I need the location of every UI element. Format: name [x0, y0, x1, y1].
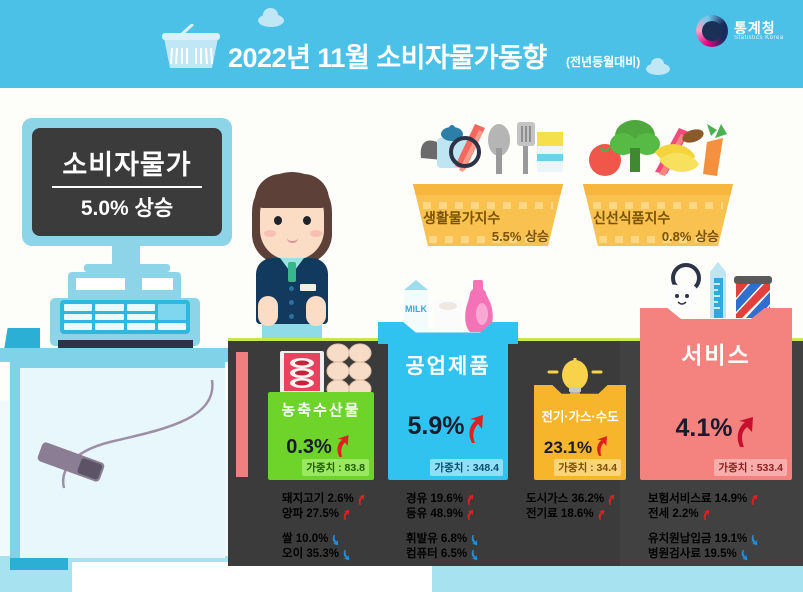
arrow-up-icon	[342, 509, 351, 521]
cash-register-drawer-slot	[58, 340, 193, 348]
logo-label-en: Statistics Korea	[734, 35, 784, 41]
subitem-label: 컴퓨터 6.5%	[406, 547, 467, 562]
subitem-label: 돼지고기 2.6%	[282, 492, 354, 507]
subitem-label: 경유 19.6%	[406, 492, 463, 507]
weight-label-industrial: 가중치 : 348.4	[430, 459, 503, 476]
arrow-up-icon	[466, 509, 475, 521]
basket-shape: 생활물가지수 5.5% 상승	[413, 184, 563, 246]
necktie	[288, 262, 296, 282]
arrow-down-icon	[740, 549, 749, 561]
arrow-up-icon	[466, 414, 488, 440]
page-title: 2022년 11월 소비자물가동향	[228, 36, 547, 75]
arrow-down-icon	[470, 534, 479, 546]
cpi-monitor: 소비자물가 5.0% 상승	[22, 118, 232, 246]
subitem-list-industrial: 경유 19.6% 등유 48.9% 휘발유 6.8% 컴퓨터 6.5%	[406, 492, 479, 562]
subitem-label: 전기료 18.6%	[526, 507, 594, 522]
subitem-label: 오이 35.3%	[282, 547, 339, 562]
cash-register-keypad[interactable]	[60, 300, 190, 334]
arrow-up-icon	[597, 509, 606, 521]
subitem-label: 전세 2.2%	[648, 507, 699, 522]
hair-fringe	[255, 174, 329, 208]
subitem-label: 쌀 10.0%	[282, 532, 328, 547]
fresh-food-index-value: 0.8% 상승	[662, 226, 719, 245]
arrow-down-icon	[750, 534, 759, 546]
arrow-up-icon	[734, 416, 756, 442]
cpi-label: 소비자물가	[62, 143, 191, 182]
arrow-up-icon	[607, 494, 616, 506]
eye-right	[303, 216, 311, 225]
category-name-services: 서비스	[640, 322, 792, 370]
category-pct-industrial: 5.9%	[408, 412, 465, 441]
eye-left	[274, 216, 282, 225]
household-goods-basket-icon	[413, 108, 563, 184]
weight-label-agriculture: 가중치 : 83.8	[302, 459, 369, 476]
basket-rim	[583, 184, 733, 195]
subitem-list-services: 보험서비스료 14.9% 전세 2.2% 유치원납입금 19.1% 병원검사료 …	[648, 492, 759, 562]
arm-left	[258, 296, 278, 326]
counter-side-tab	[4, 328, 40, 350]
uniform-button	[289, 286, 294, 291]
subitem-label: 휘발유 6.8%	[406, 532, 467, 547]
shopping-basket-icon	[160, 24, 222, 70]
arm-right	[306, 296, 326, 326]
subitem-label: 양파 27.5%	[282, 507, 339, 522]
category-card-utilities: 전기·가스·수도 23.1% 가중치 : 34.4	[534, 398, 626, 480]
arrow-down-icon	[331, 534, 340, 546]
subitem-label: 유치원납입금 19.1%	[648, 532, 747, 547]
cheek-left	[264, 230, 276, 237]
cash-register-display	[76, 278, 125, 290]
floor-highlight	[72, 562, 432, 592]
fresh-food-basket: 신선식품지수 0.8% 상승	[583, 108, 733, 246]
statistics-korea-logo: 통계청 Statistics Korea	[696, 15, 784, 47]
arrow-down-icon	[342, 549, 351, 561]
category-card-industrial: 공업제품 5.9% 가중치 : 348.4	[388, 340, 508, 480]
category-name-utilities: 전기·가스·수도	[534, 398, 626, 425]
arrow-up-icon	[466, 494, 475, 506]
category-name-agriculture: 농축수산물	[268, 392, 374, 420]
weight-label-utilities: 가중치 : 34.4	[554, 459, 621, 476]
subitem-label: 등유 48.9%	[406, 507, 463, 522]
subitem-label: 보험서비스료 14.9%	[648, 492, 747, 507]
subitem-list-agriculture: 돼지고기 2.6% 양파 27.5% 쌀 10.0% 오이 35.3%	[282, 492, 366, 562]
subitem-label: 도시가스 36.2%	[526, 492, 604, 507]
arrow-up-icon	[334, 434, 356, 460]
cashier-character	[238, 168, 346, 333]
category-card-agriculture: 농축수산물 0.3% 가중치 : 83.8	[268, 392, 374, 480]
arrow-down-icon	[470, 549, 479, 561]
uniform-button	[289, 300, 294, 305]
living-price-basket: 생활물가지수 5.5% 상승	[413, 108, 563, 246]
category-pct-services: 4.1%	[676, 414, 733, 443]
cpi-value: 5.0% 상승	[81, 192, 173, 222]
meat-and-eggs-icon	[278, 343, 378, 398]
svg-text:MILK: MILK	[405, 304, 427, 314]
cloud-icon	[646, 63, 670, 75]
subitem-list-utilities: 도시가스 36.2% 전기료 18.6%	[526, 492, 616, 522]
divider	[52, 186, 202, 188]
cash-register-display-secondary	[142, 278, 173, 290]
arrow-up-icon	[750, 494, 759, 506]
category-card-services: 서비스 4.1% 가중치 : 533.4	[640, 322, 792, 480]
category-name-industrial: 공업제품	[388, 340, 508, 380]
living-price-index-value: 5.5% 상승	[492, 226, 549, 245]
infographic-root: 2022년 11월 소비자물가동향 (전년동월대비) 통계청 Statistic…	[0, 0, 803, 592]
basket-shape: 신선식품지수 0.8% 상승	[583, 184, 733, 246]
cpi-monitor-screen: 소비자물가 5.0% 상승	[32, 128, 222, 236]
monitor-neck	[112, 246, 140, 266]
weight-label-services: 가중치 : 533.4	[714, 459, 787, 476]
monitor-base	[84, 264, 170, 272]
subitem-label: 병원검사료 19.5%	[648, 547, 737, 562]
conveyor-divider-bar	[236, 352, 248, 477]
arrow-up-icon	[357, 494, 366, 506]
header-bar: 2022년 11월 소비자물가동향 (전년동월대비) 통계청 Statistic…	[0, 0, 803, 88]
category-pct-agriculture: 0.3%	[286, 436, 332, 459]
category-pct-utilities: 23.1%	[544, 438, 592, 458]
basket-rim	[413, 184, 563, 195]
arrow-up-icon	[702, 509, 711, 521]
fresh-food-index-label: 신선식품지수	[593, 208, 670, 228]
cloud-icon	[258, 14, 284, 27]
uniform-button	[289, 314, 294, 319]
scanner-cord	[40, 380, 220, 490]
cheek-right	[310, 230, 322, 237]
fresh-food-basket-icon	[583, 108, 733, 184]
taegeuk-logo-icon	[696, 15, 728, 47]
living-price-index-label: 생활물가지수	[423, 208, 500, 228]
arrow-up-icon	[594, 435, 616, 461]
name-badge	[300, 284, 316, 291]
logo-label-ko: 통계청	[734, 21, 784, 36]
page-subtitle: (전년동월대비)	[566, 53, 640, 70]
